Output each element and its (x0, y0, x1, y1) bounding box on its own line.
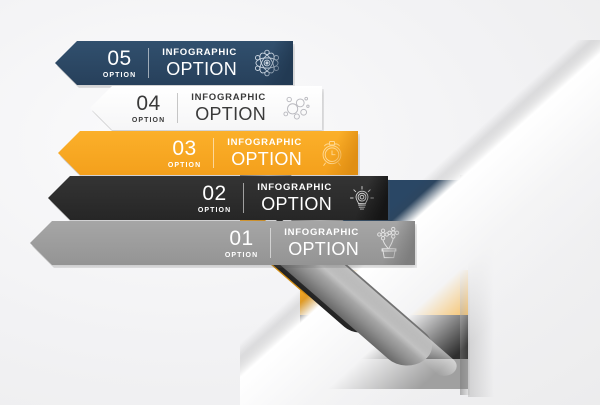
ribbon-option-01[interactable]: 01 OPTION INFOGRAPHIC OPTION (30, 221, 415, 265)
number-block-03: 03 OPTION (164, 138, 211, 169)
ribbon-content-05: 05 OPTION INFOGRAPHIC OPTION (99, 45, 293, 81)
number-block-02: 02 OPTION (194, 183, 241, 214)
ribbon-label-top-05: INFOGRAPHIC (162, 48, 237, 58)
ribbon-label-main-02: OPTION (261, 195, 332, 213)
atom-icon (249, 45, 285, 81)
divider-04 (177, 93, 178, 123)
ribbon-number-05: 05 (107, 48, 131, 69)
ribbon-content-01: 01 OPTION INFOGRAPHIC OPTION (221, 225, 415, 261)
flower-pot-icon (371, 225, 407, 261)
infographic-canvas: 05 OPTION INFOGRAPHIC OPTION (0, 0, 600, 405)
ribbon-number-02: 02 (202, 183, 226, 204)
number-block-04: 04 OPTION (128, 93, 175, 124)
ribbon-number-01: 01 (229, 228, 253, 249)
number-block-01: 01 OPTION (221, 228, 268, 259)
ribbon-number-03: 03 (172, 138, 196, 159)
ribbon-number-caption-01: OPTION (225, 252, 258, 259)
label-block-05: INFOGRAPHIC OPTION (151, 48, 246, 79)
ribbon-label-top-02: INFOGRAPHIC (257, 183, 332, 193)
ribbon-option-05[interactable]: 05 OPTION INFOGRAPHIC OPTION (55, 41, 293, 85)
bubbles-icon (278, 90, 314, 126)
ribbon-label-top-03: INFOGRAPHIC (227, 138, 302, 148)
label-block-03: INFOGRAPHIC OPTION (216, 138, 311, 169)
divider-05 (148, 48, 149, 78)
divider-02 (243, 183, 244, 213)
ribbon-number-caption-05: OPTION (103, 72, 136, 79)
ribbon-label-top-04: INFOGRAPHIC (191, 93, 266, 103)
ribbon-label-main-03: OPTION (231, 150, 302, 168)
ribbon-number-caption-04: OPTION (132, 117, 165, 124)
ribbon-content-04: 04 OPTION INFOGRAPHIC OPTION (128, 90, 322, 126)
ribbon-number-04: 04 (136, 93, 160, 114)
ribbon-content-03: 03 OPTION INFOGRAPHIC OPTION (164, 135, 358, 171)
ribbon-label-main-04: OPTION (195, 105, 266, 123)
ribbon-number-caption-03: OPTION (168, 162, 201, 169)
label-block-01: INFOGRAPHIC OPTION (273, 228, 368, 259)
lightbulb-icon (344, 180, 380, 216)
ribbon-option-02[interactable]: 02 OPTION INFOGRAPHIC OPTION (48, 176, 388, 220)
ribbon-option-04[interactable]: 04 OPTION INFOGRAPHIC OPTION (90, 86, 322, 130)
label-block-04: INFOGRAPHIC OPTION (180, 93, 275, 124)
divider-01 (270, 228, 271, 258)
divider-03 (213, 138, 214, 168)
ribbon-number-caption-02: OPTION (198, 207, 231, 214)
ribbon-option-03[interactable]: 03 OPTION INFOGRAPHIC OPTION (58, 131, 358, 175)
label-block-02: INFOGRAPHIC OPTION (246, 183, 341, 214)
ribbon-content-02: 02 OPTION INFOGRAPHIC OPTION (194, 180, 388, 216)
alarm-clock-icon (314, 135, 350, 171)
ribbon-label-top-01: INFOGRAPHIC (284, 228, 359, 238)
ribbon-label-main-05: OPTION (166, 60, 237, 78)
number-block-05: 05 OPTION (99, 48, 146, 79)
ribbon-label-main-01: OPTION (288, 240, 359, 258)
